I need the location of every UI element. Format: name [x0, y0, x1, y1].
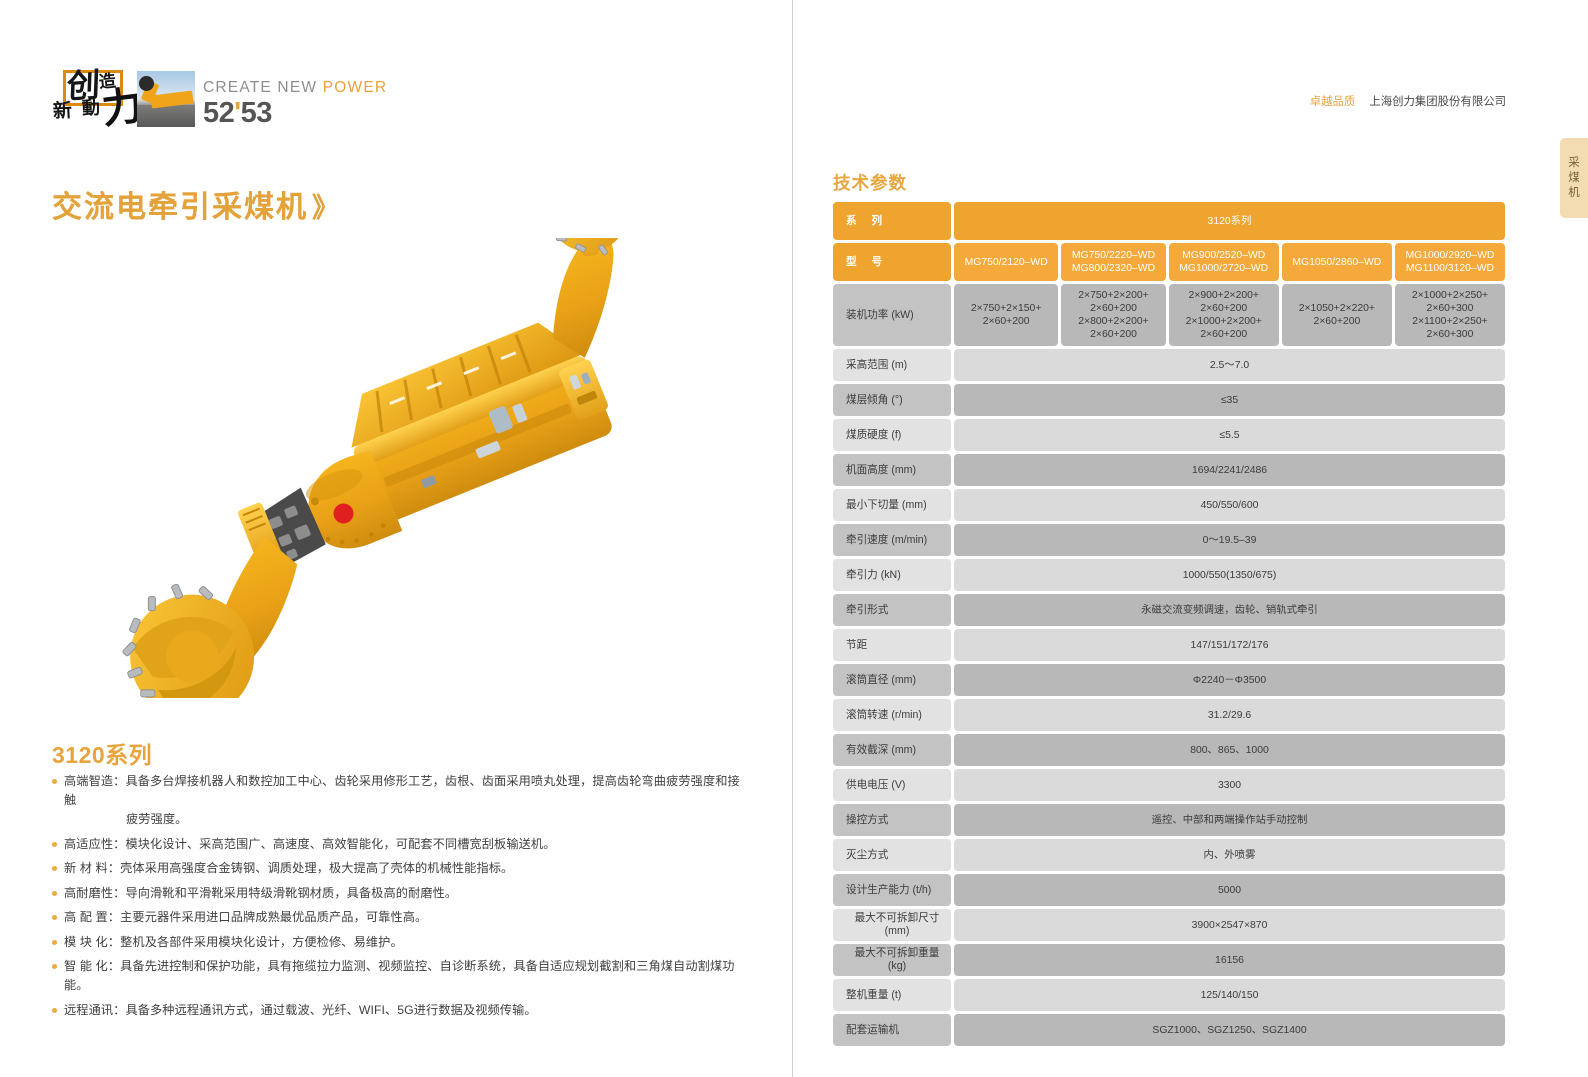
feature-label: 高适应性：: [64, 837, 125, 851]
table-row: 节距147/151/172/176: [833, 629, 1505, 661]
table-row: 牵引形式永磁交流变频调速，齿轮、销轨式牵引: [833, 594, 1505, 626]
row-label: 整机重量 (t): [833, 979, 951, 1011]
table-row: 牵引速度 (m/min)0～19.5–39: [833, 524, 1505, 556]
list-item: 智 能 化：具备先进控制和保护功能，具有拖缆拉力监测、视频监控、自诊断系统，具备…: [52, 957, 742, 995]
model-cell-4: MG1050/2860–WD: [1282, 243, 1392, 281]
model-cell-3: MG900/2520–WD MG1000/2720–WD: [1169, 243, 1279, 281]
row-label: 牵引速度 (m/min): [833, 524, 951, 556]
feature-body: 整机及各部件采用模块化设计，方便检修、易维护。: [120, 935, 403, 949]
list-item: 高适应性：模块化设计、采高范围广、高速度、高效智能化，可配套不同槽宽刮板输送机。: [52, 835, 742, 854]
table-row: 机面高度 (mm)1694/2241/2486: [833, 454, 1505, 486]
row-label: 灭尘方式: [833, 839, 951, 871]
row-label: 采高范围 (m): [833, 349, 951, 381]
logo-mark: 创 造 新 動 力: [55, 68, 195, 130]
feature-label: 高耐磨性：: [64, 886, 125, 900]
row-value: 遥控、中部和两端操作站手动控制: [954, 804, 1505, 836]
photo-machine-drum: [139, 76, 154, 91]
row-value: 内、外喷雾: [954, 839, 1505, 871]
feature-body: 壳体采用高强度合金铸钢、调质处理，极大提高了壳体的机械性能指标。: [120, 861, 513, 875]
row-label: 配套运输机: [833, 1014, 951, 1046]
table-row: 采高范围 (m)2.5～7.0: [833, 349, 1505, 381]
bullet-dot-icon: [52, 842, 57, 847]
table-row: 设计生产能力 (t/h)5000: [833, 874, 1505, 906]
row-label: 最大不可拆卸重量 (kg): [833, 944, 951, 976]
power-cell-5: 2×1000+2×250+ 2×60+300 2×1100+2×250+ 2×6…: [1395, 284, 1505, 346]
table-row: 滚筒直径 (mm)Φ2240－Φ3500: [833, 664, 1505, 696]
feature-text: 模 块 化：整机及各部件采用模块化设计，方便检修、易维护。: [64, 933, 403, 952]
row-label: 供电电压 (V): [833, 769, 951, 801]
spec-table-title: 技术参数: [833, 170, 907, 195]
logo-machine-photo: [137, 71, 195, 127]
table-row: 最小下切量 (mm)450/550/600: [833, 489, 1505, 521]
bullet-dot-icon: [52, 866, 57, 871]
table-row: 操控方式遥控、中部和两端操作站手动控制: [833, 804, 1505, 836]
row-value: 147/151/172/176: [954, 629, 1505, 661]
row-label: 最小下切量 (mm): [833, 489, 951, 521]
row-value: ≤35: [954, 384, 1505, 416]
page-title-text: 交流电牵引采煤机: [52, 191, 308, 224]
list-item: 高 配 置：主要元器件采用进口品牌成熟最优品质产品，可靠性高。: [52, 908, 742, 927]
table-row-power: 装机功率 (kW) 2×750+2×150+ 2×60+200 2×750+2×…: [833, 284, 1505, 346]
row-label: 滚筒转速 (r/min): [833, 699, 951, 731]
row-label: 型 号: [833, 243, 951, 281]
table-row: 有效截深 (mm)800、865、1000: [833, 734, 1505, 766]
table-row: 最大不可拆卸尺寸 (mm)3900×2547×870: [833, 909, 1505, 941]
row-value: 1694/2241/2486: [954, 454, 1505, 486]
row-label: 有效截深 (mm): [833, 734, 951, 766]
power-cell-4: 2×1050+2×220+ 2×60+200: [1282, 284, 1392, 346]
feature-text: 高 配 置：主要元器件采用进口品牌成熟最优品质产品，可靠性高。: [64, 908, 427, 927]
brand-logo: 创 造 新 動 力 CREATE NEW POWER 52'53: [55, 68, 387, 130]
brand-tagline: CREATE NEW POWER: [203, 79, 387, 97]
table-row: 煤层倾角 (°)≤35: [833, 384, 1505, 416]
feature-continuation: 疲劳强度。: [126, 810, 742, 829]
table-row: 滚筒转速 (r/min)31.2/29.6: [833, 699, 1505, 731]
feature-body: 具备多种远程通讯方式，通过载波、光纤、WIFI、5G进行数据及视频传输。: [125, 1003, 536, 1017]
section-tab-shearer[interactable]: 采 煤 机: [1560, 138, 1588, 218]
tagline-power: POWER: [323, 79, 388, 96]
tagline-create: CREATE NEW: [203, 79, 323, 96]
row-value: ≤5.5: [954, 419, 1505, 451]
photo-road: [137, 105, 195, 127]
page-title: 交流电牵引采煤机》: [52, 182, 336, 226]
list-item: 远程通讯：具备多种远程通讯方式，通过载波、光纤、WIFI、5G进行数据及视频传输…: [52, 1001, 742, 1020]
feature-text: 智 能 化：具备先进控制和保护功能，具有拖缆拉力监测、视频监控、自诊断系统，具备…: [64, 957, 742, 995]
page-number: 52'53: [203, 98, 387, 128]
row-value: 3900×2547×870: [954, 909, 1505, 941]
right-page: 卓越品质上海创力集团股份有限公司 采 煤 机 技术参数 系 列 3120系列 型…: [793, 0, 1588, 1077]
feature-text: 新 材 料：壳体采用高强度合金铸钢、调质处理，极大提高了壳体的机械性能指标。: [64, 859, 513, 878]
row-label: 滚筒直径 (mm): [833, 664, 951, 696]
row-label: 操控方式: [833, 804, 951, 836]
power-cell-1: 2×750+2×150+ 2×60+200: [954, 284, 1058, 346]
power-cell-2: 2×750+2×200+ 2×60+200 2×800+2×200+ 2×60+…: [1061, 284, 1165, 346]
chevron-right-icon: 》: [312, 193, 336, 223]
table-row: 最大不可拆卸重量 (kg)16156: [833, 944, 1505, 976]
feature-body: 主要元器件采用进口品牌成熟最优品质产品，可靠性高。: [120, 910, 427, 924]
bullet-dot-icon: [52, 915, 57, 920]
row-value: 450/550/600: [954, 489, 1505, 521]
corp-slogan: 卓越品质: [1310, 96, 1356, 108]
feature-text: 高适应性：模块化设计、采高范围广、高速度、高效智能化，可配套不同槽宽刮板输送机。: [64, 835, 556, 854]
bullet-dot-icon: [52, 940, 57, 945]
calligraphy-char-3: 新: [53, 102, 73, 122]
row-value: 0～19.5–39: [954, 524, 1505, 556]
table-row-model: 型 号 MG750/2120–WD MG750/2220–WD MG800/23…: [833, 243, 1505, 281]
logo-text-block: CREATE NEW POWER 52'53: [203, 79, 387, 130]
bullet-dot-icon: [52, 891, 57, 896]
row-value: 2.5～7.0: [954, 349, 1505, 381]
row-label: 设计生产能力 (t/h): [833, 874, 951, 906]
model-cell-5: MG1000/2920–WD MG1100/3120–WD: [1395, 243, 1505, 281]
model-cell-2: MG750/2220–WD MG800/2320–WD: [1061, 243, 1165, 281]
row-value: 125/140/150: [954, 979, 1505, 1011]
table-row: 牵引力 (kN)1000/550(1350/675): [833, 559, 1505, 591]
row-label: 节距: [833, 629, 951, 661]
machine-illustration: [62, 238, 722, 698]
table-row: 配套运输机SGZ1000、SGZ1250、SGZ1400: [833, 1014, 1505, 1046]
row-value: 5000: [954, 874, 1505, 906]
feature-label: 新 材 料：: [64, 861, 120, 875]
row-label: 煤质硬度 (f): [833, 419, 951, 451]
page-number-left: 52: [203, 97, 234, 129]
power-cell-3: 2×900+2×200+ 2×60+200 2×1000+2×200+ 2×60…: [1169, 284, 1279, 346]
feature-body: 具备多台焊接机器人和数控加工中心、齿轮采用修形工艺，齿根、齿面采用喷丸处理，提高…: [64, 774, 740, 807]
row-label: 装机功率 (kW): [833, 284, 951, 346]
feature-text: 高耐磨性：导向滑靴和平滑靴采用特级滑靴钢材质，具备极高的耐磨性。: [64, 884, 457, 903]
feature-text: 高端智造：具备多台焊接机器人和数控加工中心、齿轮采用修形工艺，齿根、齿面采用喷丸…: [64, 772, 742, 829]
feature-body: 具备先进控制和保护功能，具有拖缆拉力监测、视频监控、自诊断系统，具备自适应规划截…: [64, 959, 735, 992]
row-value: Φ2240－Φ3500: [954, 664, 1505, 696]
section-tab-char-2: 煤: [1568, 172, 1580, 185]
feature-list: 高端智造：具备多台焊接机器人和数控加工中心、齿轮采用修形工艺，齿根、齿面采用喷丸…: [52, 772, 742, 1025]
feature-label: 智 能 化：: [64, 959, 120, 973]
row-value: 800、865、1000: [954, 734, 1505, 766]
row-value: SGZ1000、SGZ1250、SGZ1400: [954, 1014, 1505, 1046]
feature-label: 模 块 化：: [64, 935, 120, 949]
section-tab-char-1: 采: [1568, 157, 1580, 170]
left-page: 创 造 新 動 力 CREATE NEW POWER 52'53 交流电牵引采煤…: [0, 0, 792, 1077]
bullet-dot-icon: [52, 779, 57, 784]
feature-label: 高 配 置：: [64, 910, 120, 924]
row-label: 牵引力 (kN): [833, 559, 951, 591]
table-row: 煤质硬度 (f)≤5.5: [833, 419, 1505, 451]
bullet-dot-icon: [52, 1008, 57, 1013]
row-value: 1000/550(1350/675): [954, 559, 1505, 591]
row-label: 煤层倾角 (°): [833, 384, 951, 416]
row-value: 16156: [954, 944, 1505, 976]
feature-body: 模块化设计、采高范围广、高速度、高效智能化，可配套不同槽宽刮板输送机。: [125, 837, 555, 851]
series-heading: 3120系列: [52, 736, 152, 770]
brochure-page: 创 造 新 動 力 CREATE NEW POWER 52'53 交流电牵引采煤…: [0, 0, 1588, 1077]
table-row: 供电电压 (V)3300: [833, 769, 1505, 801]
calligraphy-char-4: 動: [82, 100, 101, 119]
row-value: 31.2/29.6: [954, 699, 1505, 731]
feature-label: 高端智造：: [64, 774, 125, 788]
model-cell-1: MG750/2120–WD: [954, 243, 1058, 281]
page-number-right: 53: [241, 97, 272, 129]
corp-name: 上海创力集团股份有限公司: [1369, 96, 1506, 108]
bullet-dot-icon: [52, 964, 57, 969]
row-value: 永磁交流变频调速，齿轮、销轨式牵引: [954, 594, 1505, 626]
row-value: 3300: [954, 769, 1505, 801]
list-item: 模 块 化：整机及各部件采用模块化设计，方便检修、易维护。: [52, 933, 742, 952]
feature-body: 导向滑靴和平滑靴采用特级滑靴钢材质，具备极高的耐磨性。: [125, 886, 457, 900]
series-value: 3120系列: [954, 202, 1505, 240]
row-label: 最大不可拆卸尺寸 (mm): [833, 909, 951, 941]
feature-text: 远程通讯：具备多种远程通讯方式，通过载波、光纤、WIFI、5G进行数据及视频传输…: [64, 1001, 537, 1020]
row-label: 牵引形式: [833, 594, 951, 626]
table-row: 整机重量 (t)125/140/150: [833, 979, 1505, 1011]
row-label: 机面高度 (mm): [833, 454, 951, 486]
calligraphy-logo-icon: 创 造 新 動 力: [55, 68, 143, 130]
row-label: 系 列: [833, 202, 951, 240]
list-item: 新 材 料：壳体采用高强度合金铸钢、调质处理，极大提高了壳体的机械性能指标。: [52, 859, 742, 878]
spec-table: 系 列 3120系列 型 号 MG750/2120–WD MG750/2220–…: [833, 202, 1505, 1049]
feature-label: 远程通讯：: [64, 1003, 125, 1017]
section-tab-char-3: 机: [1568, 187, 1580, 200]
table-row-series: 系 列 3120系列: [833, 202, 1505, 240]
table-row: 灭尘方式内、外喷雾: [833, 839, 1505, 871]
corporate-identity: 卓越品质上海创力集团股份有限公司: [1310, 93, 1506, 109]
list-item: 高端智造：具备多台焊接机器人和数控加工中心、齿轮采用修形工艺，齿根、齿面采用喷丸…: [52, 772, 742, 829]
list-item: 高耐磨性：导向滑靴和平滑靴采用特级滑靴钢材质，具备极高的耐磨性。: [52, 884, 742, 903]
